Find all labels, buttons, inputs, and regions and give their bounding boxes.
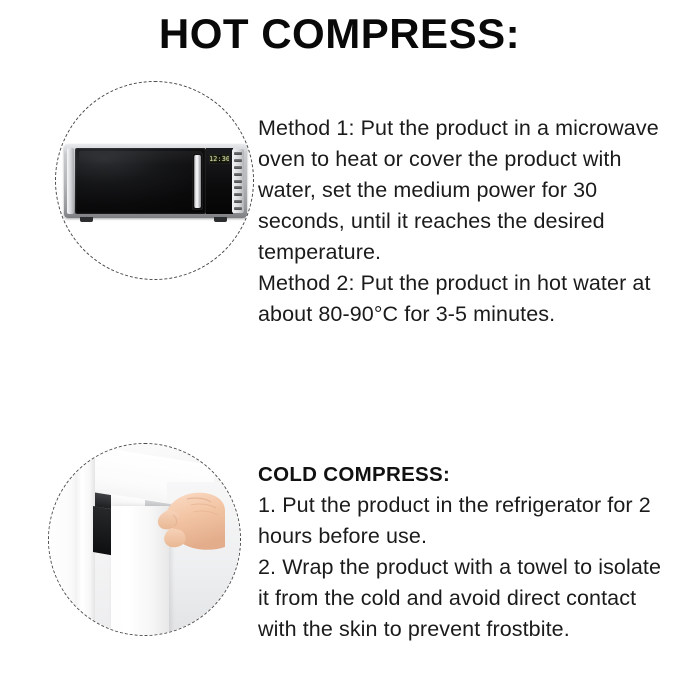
microwave-button[interactable]: [234, 193, 242, 196]
microwave-illustration: 12:30: [56, 82, 253, 279]
microwave-button[interactable]: [234, 159, 242, 162]
microwave-left-bezel: [67, 148, 74, 214]
microwave-button[interactable]: [234, 152, 242, 155]
microwave-button[interactable]: [234, 200, 242, 203]
cold-line-3: 2. Wrap the product with a towel to isol…: [258, 552, 673, 583]
microwave-image-circle: 12:30: [55, 81, 254, 280]
microwave-button[interactable]: [234, 173, 242, 176]
hot-line-6: Method 2: Put the product in hot water a…: [258, 268, 673, 299]
instruction-page: HOT COMPRESS: 12:30: [0, 0, 679, 679]
hot-line-7: about 80-90°C for 3-5 minutes.: [258, 299, 673, 330]
cold-line-4: it from the cold and avoid direct contac…: [258, 583, 673, 614]
microwave-control-panel[interactable]: [232, 149, 244, 213]
cold-compress-heading: COLD COMPRESS:: [258, 459, 673, 490]
microwave-display: 12:30: [209, 154, 230, 164]
hand-icon: [147, 491, 225, 553]
microwave-door-handle[interactable]: [194, 155, 201, 208]
microwave-foot: [80, 217, 93, 222]
microwave-body: 12:30: [64, 144, 247, 222]
microwave-button[interactable]: [234, 166, 242, 169]
cold-compress-text: COLD COMPRESS: 1. Put the product in the…: [258, 459, 673, 645]
hot-line-1: Method 1: Put the product in a microwave: [258, 113, 673, 144]
cold-line-1: 1. Put the product in the refrigerator f…: [258, 490, 673, 521]
refrigerator-door-stile: [75, 452, 95, 636]
microwave-button[interactable]: [234, 207, 242, 210]
microwave-foot: [214, 217, 227, 222]
hot-line-4: seconds, until it reaches the desired: [258, 206, 673, 237]
microwave-door-glass: [75, 148, 206, 214]
microwave-button[interactable]: [234, 186, 242, 189]
hot-line-3: water, set the medium power for 30: [258, 175, 673, 206]
microwave-button[interactable]: [234, 180, 242, 183]
refrigerator-illustration: [49, 444, 240, 635]
hot-compress-text: Method 1: Put the product in a microwave…: [258, 113, 673, 330]
page-title: HOT COMPRESS:: [0, 8, 679, 60]
cold-line-5: with the skin to prevent frostbite.: [258, 614, 673, 645]
hot-line-5: temperature.: [258, 237, 673, 268]
microwave-display-value: 12:30: [209, 156, 230, 163]
refrigerator-image-circle: [48, 443, 241, 636]
hot-line-2: oven to heat or cover the product with: [258, 144, 673, 175]
cold-line-2: hours before use.: [258, 521, 673, 552]
